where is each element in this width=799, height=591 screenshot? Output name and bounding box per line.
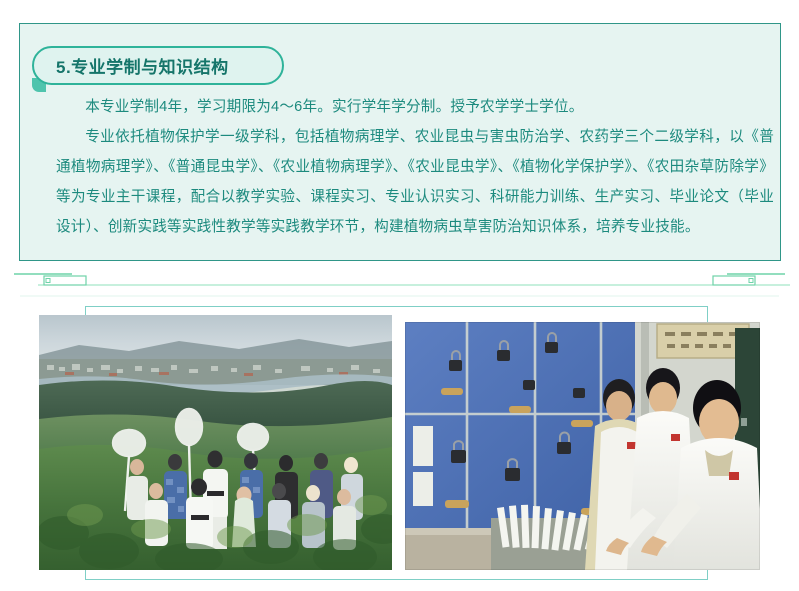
laboratory-practice-photo-graphic [405,322,760,570]
page-title: 5.专业学制与知识结构 [34,53,229,78]
section-title-badge: 5.专业学制与知识结构 [32,46,284,85]
laboratory-practice-photo [405,322,760,570]
paragraph-2: 专业依托植物保护学一级学科，包括植物病理学、农业昆虫与害虫防治学、农药学三个二级… [56,122,774,242]
decorative-divider [0,262,799,304]
field-practice-photo [39,315,392,570]
field-practice-photo-graphic [39,315,392,570]
divider-graphic [0,262,799,304]
section-card: 5.专业学制与知识结构 本专业学制4年，学习期限为4～6年。实行学年学分制。授予… [19,23,781,261]
paragraph-1: 本专业学制4年，学习期限为4～6年。实行学年学分制。授予农学学士学位。 [56,92,774,122]
section-body-text: 本专业学制4年，学习期限为4～6年。实行学年学分制。授予农学学士学位。 专业依托… [56,92,774,242]
